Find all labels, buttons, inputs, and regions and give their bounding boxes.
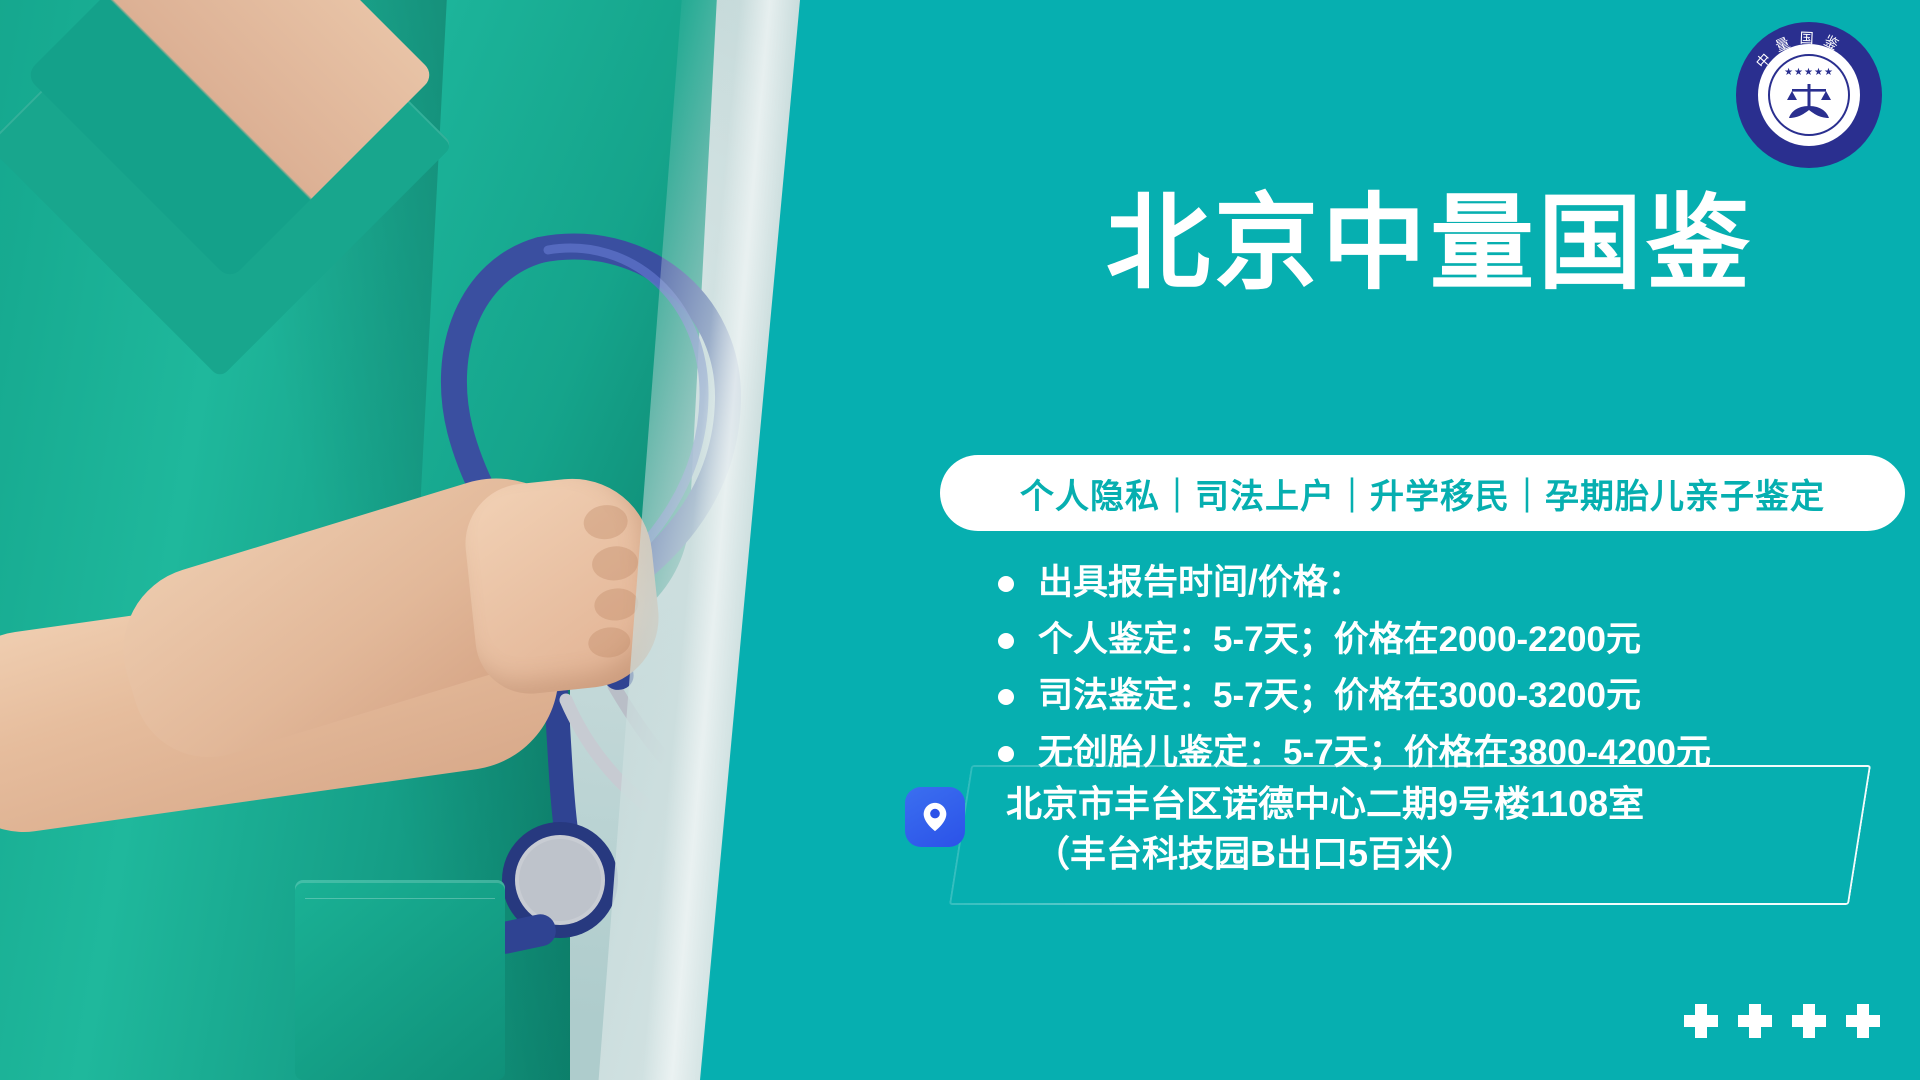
list-item: 司法鉴定：5-7天；价格在3000-3200元: [990, 673, 1920, 719]
logo-stars: ★★★★★: [1784, 68, 1834, 78]
promo-banner: 中量国鉴 公平 · 公正 · 科学 · 严谨 ★★★★★: [0, 0, 1920, 1080]
scrubs-pocket: [295, 880, 505, 1080]
medical-cross-icon: [1738, 1004, 1772, 1038]
logo-inner-disc: ★★★★★: [1758, 44, 1860, 146]
medical-cross-icon: [1792, 1004, 1826, 1038]
map-pin-icon: [905, 787, 965, 847]
services-pill: 个人隐私｜司法上户｜升学移民｜孕期胎儿亲子鉴定: [940, 455, 1905, 531]
map-pin-glyph: [918, 800, 952, 834]
pricing-list: 出具报告时间/价格： 个人鉴定：5-7天；价格在2000-2200元 司法鉴定：…: [990, 560, 1920, 786]
address-line-1: 北京市丰台区诺德中心二期9号楼1108室: [1006, 779, 1846, 829]
page-title: 北京中量国鉴: [940, 190, 1920, 299]
scales-of-justice-icon: [1783, 80, 1835, 122]
company-logo: 中量国鉴 公平 · 公正 · 科学 · 严谨 ★★★★★: [1736, 22, 1882, 168]
content-pane: 中量国鉴 公平 · 公正 · 科学 · 严谨 ★★★★★: [940, 0, 1920, 1080]
medical-cross-icon: [1684, 1004, 1718, 1038]
medical-cross-decoration: [1684, 1004, 1880, 1038]
address-text: 北京市丰台区诺德中心二期9号楼1108室 （丰台科技园B出口5百米）: [1006, 779, 1846, 878]
address-line-2: （丰台科技园B出口5百米）: [1006, 829, 1846, 879]
logo-emblem-core: ★★★★★: [1768, 54, 1850, 136]
list-item: 个人鉴定：5-7天；价格在2000-2200元: [990, 617, 1920, 663]
services-text: 个人隐私｜司法上户｜升学移民｜孕期胎儿亲子鉴定: [1020, 469, 1825, 518]
list-item: 出具报告时间/价格：: [990, 560, 1920, 606]
medical-cross-icon: [1846, 1004, 1880, 1038]
address-block: 北京市丰台区诺德中心二期9号楼1108室 （丰台科技园B出口5百米）: [960, 765, 1860, 905]
